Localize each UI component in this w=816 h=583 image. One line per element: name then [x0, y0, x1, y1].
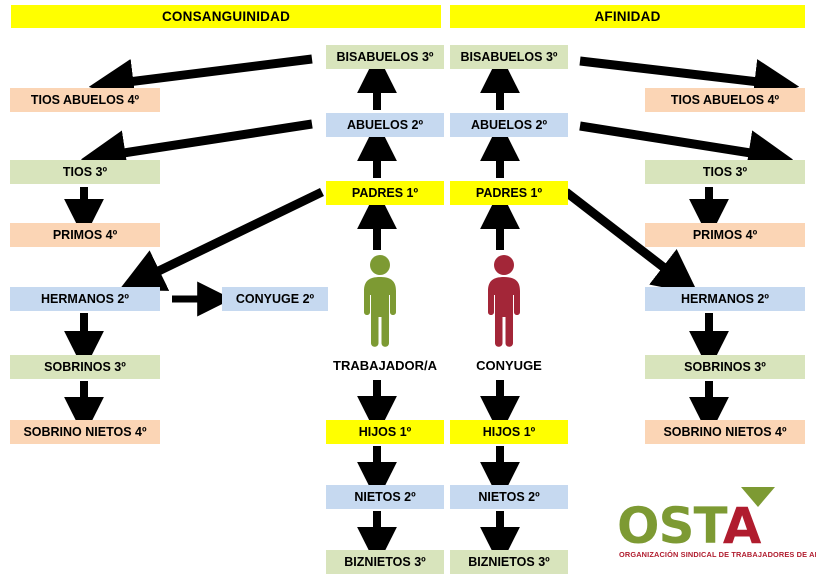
box-biznietos-a: BIZNIETOS 3º [450, 550, 568, 574]
box-nietos-c: NIETOS 2º [326, 485, 444, 509]
worker-person-icon [358, 255, 402, 351]
arrow-abuelos-to-tios-izq [104, 124, 312, 156]
banner-consanguinidad: CONSANGUINIDAD [11, 5, 441, 28]
box-hijos-a: HIJOS 1º [450, 420, 568, 444]
kinship-diagram: CONSANGUINIDAD AFINIDAD TIOS ABUELOS 4º … [0, 0, 816, 583]
box-primos-der: PRIMOS 4º [645, 223, 805, 247]
spouse-person-icon [482, 255, 526, 351]
box-sobrinos-der: SOBRINOS 3º [645, 355, 805, 379]
box-sobrino-nietos-der: SOBRINO NIETOS 4º [645, 420, 805, 444]
box-tios-der: TIOS 3º [645, 160, 805, 184]
box-abuelos-a: ABUELOS 2º [450, 113, 568, 137]
arrow-padres-to-hermanos-izq [140, 192, 322, 280]
box-abuelos-c: ABUELOS 2º [326, 113, 444, 137]
arrow-abuelos-to-tios-der [580, 126, 770, 156]
box-hermanos-der: HERMANOS 2º [645, 287, 805, 311]
box-bisabuelos-a: BISABUELOS 3º [450, 45, 568, 69]
box-primos-izq: PRIMOS 4º [10, 223, 160, 247]
arrow-bisabuelos-to-tios-abuelos-der [580, 61, 776, 84]
box-biznietos-c: BIZNIETOS 3º [326, 550, 444, 574]
box-sobrino-nietos-izq: SOBRINO NIETOS 4º [10, 420, 160, 444]
arrow-bisabuelos-to-tios-abuelos-izq [112, 59, 312, 84]
box-tios-izq: TIOS 3º [10, 160, 160, 184]
box-hermanos-izq: HERMANOS 2º [10, 287, 160, 311]
logo-ost-text: OST [617, 497, 723, 555]
label-trabajador: TRABAJADOR/A [318, 354, 452, 378]
box-bisabuelos-c: BISABUELOS 3º [326, 45, 444, 69]
box-padres-a: PADRES 1º [450, 181, 568, 205]
box-tios-abuelos-izq: TIOS ABUELOS 4º [10, 88, 160, 112]
box-conyuge-2: CONYUGE 2º [222, 287, 328, 311]
box-hijos-c: HIJOS 1º [326, 420, 444, 444]
label-conyuge: CONYUGE [442, 354, 576, 378]
logo-tagline: ORGANIZACIÓN SINDICAL DE TRABAJADORES DE… [619, 550, 803, 559]
logo-a-text: A [723, 497, 761, 555]
box-nietos-a: NIETOS 2º [450, 485, 568, 509]
box-tios-abuelos-der: TIOS ABUELOS 4º [645, 88, 805, 112]
logo-wordmark: OSTA [617, 501, 809, 551]
box-sobrinos-izq: SOBRINOS 3º [10, 355, 160, 379]
banner-afinidad: AFINIDAD [450, 5, 805, 28]
box-padres-c: PADRES 1º [326, 181, 444, 205]
osta-logo: OSTA ORGANIZACIÓN SINDICAL DE TRABAJADOR… [617, 487, 809, 575]
